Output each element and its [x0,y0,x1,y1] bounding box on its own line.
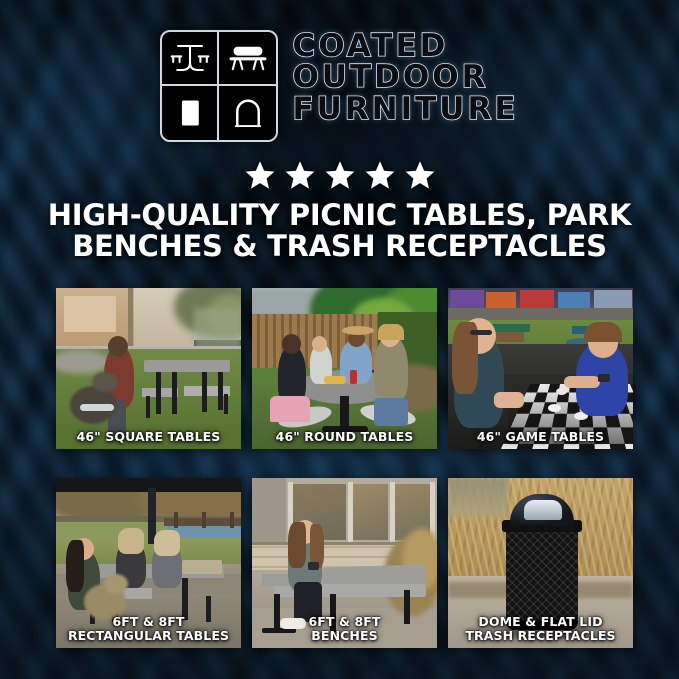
product-caption: 46" SQUARE TABLES [56,430,241,444]
product-caption: 6FT & 8FT BENCHES [252,615,437,643]
product-caption: 46" GAME TABLES [448,430,633,444]
picnic-table-icon [162,32,219,86]
product-photo-grid: 46" SQUARE TABLES [56,288,634,648]
brand-line-3: FURNITURE [292,94,518,124]
star-icon [365,160,395,190]
product-card-square-tables[interactable]: 46" SQUARE TABLES [56,288,241,449]
caption-line-1: 46" SQUARE TABLES [77,429,221,444]
caption-line-1: 6FT & 8FT [308,614,380,629]
header: COATED OUTDOOR FURNITURE HIGH-QUALITY PI… [0,0,679,272]
product-caption: 46" ROUND TABLES [252,430,437,444]
arch-icon [219,86,276,140]
product-caption: 6FT & 8FT RECTANGULAR TABLES [56,615,241,643]
photo-four-people-at-round-table [252,288,437,449]
photo-person-with-dog-at-square-table [56,288,241,449]
trash-receptacle-icon [162,86,219,140]
logo-mark [160,30,278,142]
star-icon [285,160,315,190]
photo-people-playing-checkers [448,288,633,449]
star-rating [0,160,679,190]
star-icon [325,160,355,190]
product-card-benches[interactable]: 6FT & 8FT BENCHES [252,478,437,648]
star-icon [405,160,435,190]
caption-line-2: RECTANGULAR TABLES [60,629,237,643]
caption-line-1: 6FT & 8FT [112,614,184,629]
brand-logo: COATED OUTDOOR FURNITURE [0,30,679,142]
caption-line-1: DOME & FLAT LID [478,614,602,629]
headline-line-1: HIGH-QUALITY PICNIC TABLES, PARK [48,198,631,232]
product-card-game-tables[interactable]: 46" GAME TABLES [448,288,633,449]
brand-line-1: COATED [292,31,518,61]
product-card-rectangular-tables[interactable]: 6FT & 8FT RECTANGULAR TABLES [56,478,241,648]
product-card-trash-receptacles[interactable]: DOME & FLAT LID TRASH RECEPTACLES [448,478,633,648]
brand-line-2: OUTDOOR [292,62,518,92]
caption-line-2: TRASH RECEPTACLES [452,629,629,643]
caption-line-1: 46" ROUND TABLES [276,429,414,444]
caption-line-1: 46" GAME TABLES [477,429,604,444]
product-caption: DOME & FLAT LID TRASH RECEPTACLES [448,615,633,643]
page-title: HIGH-QUALITY PICNIC TABLES, PARK BENCHES… [0,200,679,262]
headline-line-2: BENCHES & TRASH RECEPTACLES [34,231,645,262]
product-card-round-tables[interactable]: 46" ROUND TABLES [252,288,437,449]
brand-name: COATED OUTDOOR FURNITURE [292,30,518,124]
caption-line-2: BENCHES [256,629,433,643]
star-icon [245,160,275,190]
bench-icon [219,32,276,86]
